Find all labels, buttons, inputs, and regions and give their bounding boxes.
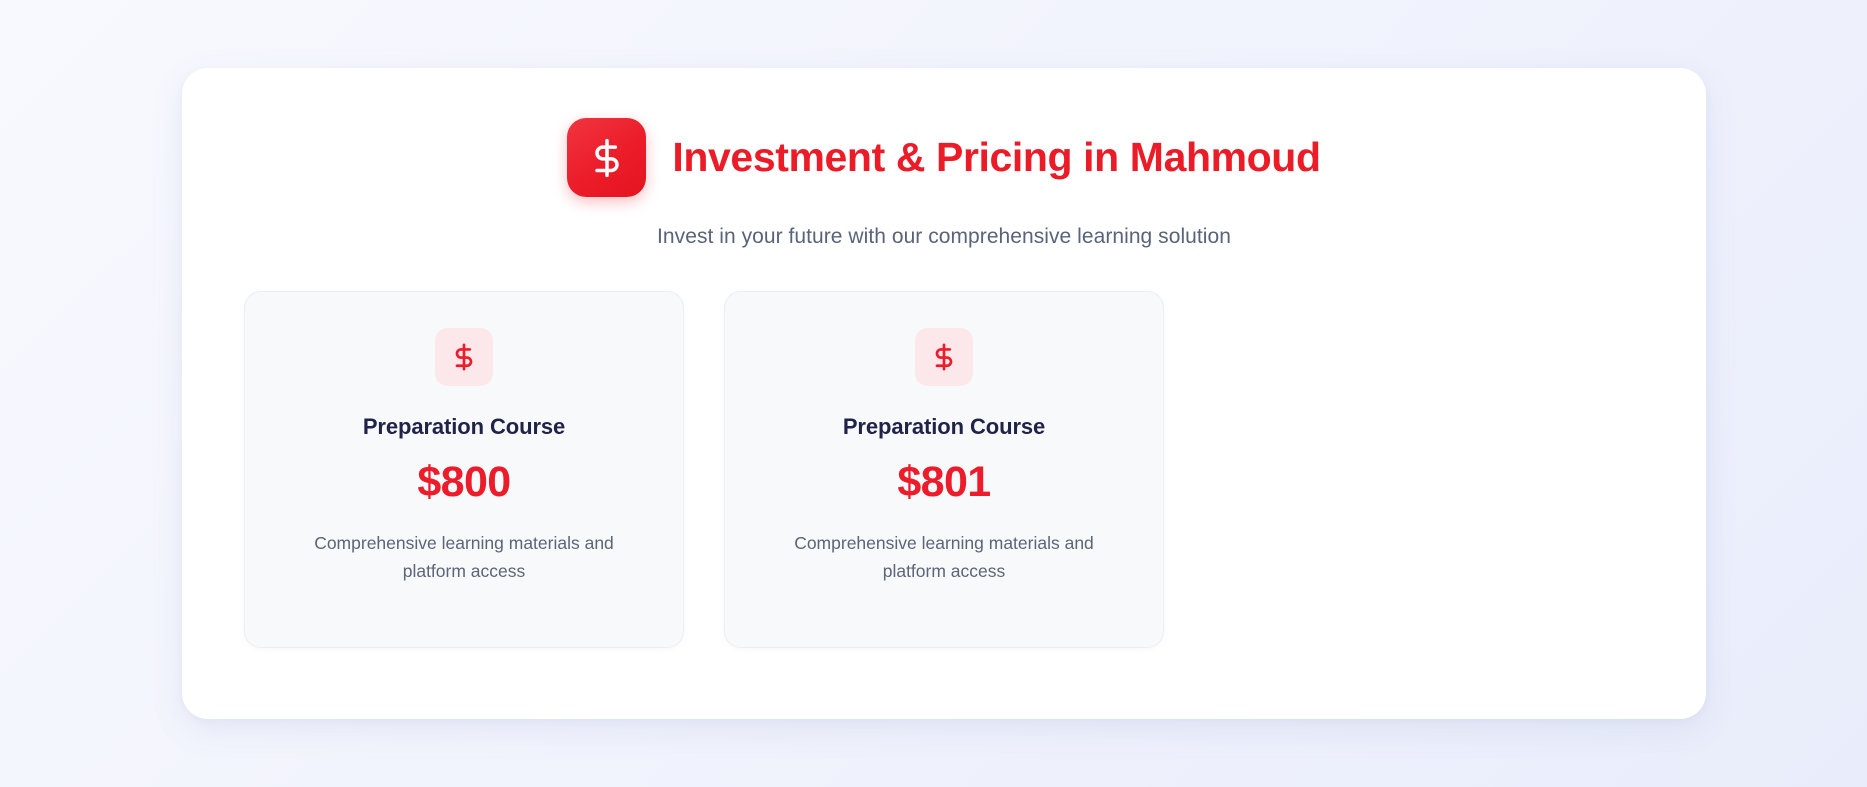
panel-header: Investment & Pricing in Mahmoud [182, 68, 1706, 197]
pricing-grid: Preparation Course $800 Comprehensive le… [182, 249, 1706, 648]
pricing-card-title: Preparation Course [271, 414, 657, 440]
pricing-card-description: Comprehensive learning materials and pla… [314, 529, 614, 586]
pricing-card-price: $800 [271, 460, 657, 505]
dollar-sign-icon [915, 328, 973, 386]
page-subtitle: Invest in your future with our comprehen… [182, 225, 1706, 249]
pricing-card[interactable]: Preparation Course $800 Comprehensive le… [244, 291, 684, 648]
pricing-card-description: Comprehensive learning materials and pla… [794, 529, 1094, 586]
dollar-sign-icon [567, 118, 646, 197]
pricing-card-title: Preparation Course [751, 414, 1137, 440]
page-title: Investment & Pricing in Mahmoud [672, 135, 1320, 180]
pricing-card-price: $801 [751, 460, 1137, 505]
investment-pricing-panel: Investment & Pricing in Mahmoud Invest i… [182, 68, 1706, 719]
dollar-sign-icon [435, 328, 493, 386]
pricing-card[interactable]: Preparation Course $801 Comprehensive le… [724, 291, 1164, 648]
pricing-page: Investment & Pricing in Mahmoud Invest i… [0, 0, 1867, 787]
